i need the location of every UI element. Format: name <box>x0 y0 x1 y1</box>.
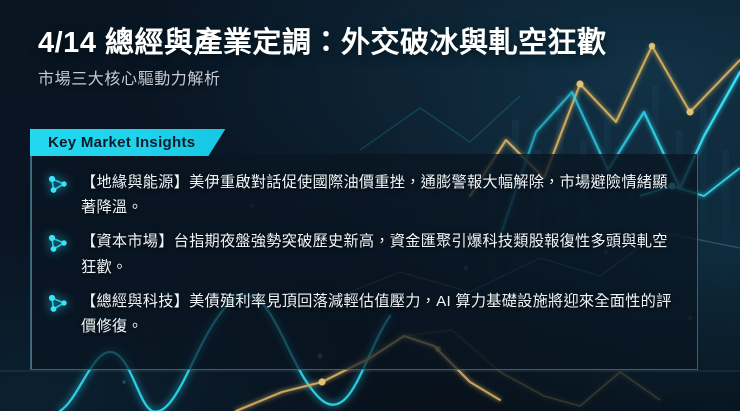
badge-label: Key Market Insights <box>48 134 195 151</box>
insight-text: 【地緣與能源】美伊重啟對話促使國際油價重挫，通膨警報大幅解除，市場避險情緒顯著降… <box>81 170 681 220</box>
cyan-upper-left-line <box>360 96 520 150</box>
insight-text: 【總經與科技】美債殖利率見頂回落減輕估值壓力，AI 算力基礎設施將迎來全面性的評… <box>81 289 681 339</box>
list-item: 【地緣與能源】美伊重啟對話促使國際油價重挫，通膨警報大幅解除，市場避險情緒顯著降… <box>45 170 681 220</box>
list-item: 【資本市場】台指期夜盤強勢突破歷史新高，資金匯聚引爆科技類股報復性多頭與軋空狂歡… <box>45 229 681 279</box>
insights-list: 【地緣與能源】美伊重啟對話促使國際油價重挫，通膨警報大幅解除，市場避險情緒顯著降… <box>31 154 697 339</box>
page-title: 4/14 總經與產業定調：外交破冰與軋空狂歡 <box>38 26 710 61</box>
insight-text: 【資本市場】台指期夜盤強勢突破歷史新高，資金匯聚引爆科技類股報復性多頭與軋空狂歡… <box>81 229 681 279</box>
key-market-insights-badge: Key Market Insights <box>30 129 225 156</box>
node-network-icon <box>45 172 71 198</box>
node-network-icon <box>45 291 71 317</box>
list-item: 【總經與科技】美債殖利率見頂回落減輕估值壓力，AI 算力基礎設施將迎來全面性的評… <box>45 289 681 339</box>
title-block: 4/14 總經與產業定調：外交破冰與軋空狂歡 市場三大核心驅動力解析 <box>38 26 710 91</box>
infographic-slide: 4/14 總經與產業定調：外交破冰與軋空狂歡 市場三大核心驅動力解析 Key M… <box>0 0 740 411</box>
insights-panel: 【地緣與能源】美伊重啟對話促使國際油價重挫，通膨警報大幅解除，市場避險情緒顯著降… <box>30 154 698 370</box>
node-network-icon <box>45 231 71 257</box>
page-subtitle: 市場三大核心驅動力解析 <box>38 70 710 91</box>
